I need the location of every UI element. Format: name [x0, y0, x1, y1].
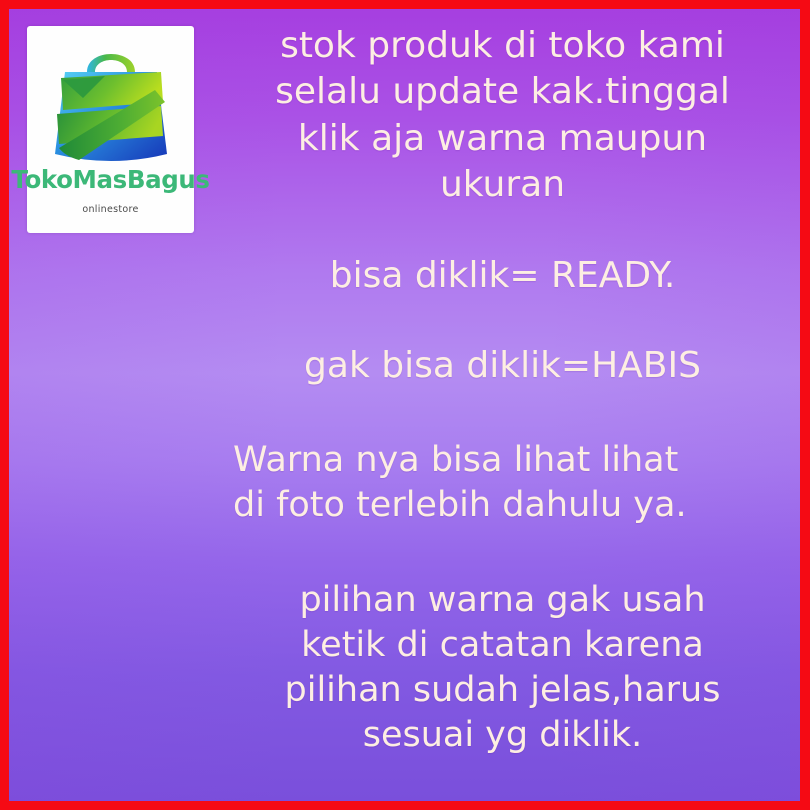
paragraph-no-notes: pilihan warna gak usah ketik di catatan …: [221, 578, 784, 759]
p1-line-4: ukuran: [440, 164, 565, 205]
brand-logo-card: TokoMasBagus onlinestore: [27, 26, 194, 233]
promo-message-block: stok produk di toko kami selalu update k…: [221, 23, 784, 758]
paragraph-ready: bisa diklik= READY.: [221, 253, 784, 299]
p5-line-1: pilihan warna gak usah: [221, 578, 784, 623]
p5-line-4: sesuai yg diklik.: [221, 713, 784, 758]
p1-line-2: selalu update kak.tinggal: [275, 71, 730, 112]
paragraph-check-photo: Warna nya bisa lihat lihat di foto terle…: [233, 438, 784, 528]
p3-line-1: gak bisa diklik=HABIS: [304, 345, 701, 386]
paragraph-habis: gak bisa diklik=HABIS: [221, 343, 784, 389]
p4-line-2: di foto terlebih dahulu ya.: [233, 483, 784, 528]
shopping-bag-ribbon-logo: [43, 32, 179, 167]
p1-line-3: klik aja warna maupun: [298, 118, 707, 159]
p2-line-1: bisa diklik= READY.: [330, 255, 676, 296]
p5-line-3: pilihan sudah jelas,harus: [221, 668, 784, 713]
p4-line-1: Warna nya bisa lihat lihat: [233, 440, 678, 480]
p1-line-1: stok produk di toko kami: [280, 25, 725, 66]
p5-line-2: ketik di catatan karena: [221, 623, 784, 668]
brand-tagline: onlinestore: [82, 204, 138, 215]
bag-handle-shape: [87, 54, 135, 72]
paragraph-stock-update: stok produk di toko kami selalu update k…: [221, 23, 784, 209]
poster-frame: TokoMasBagus onlinestore stok produk di …: [0, 0, 810, 810]
brand-name: TokoMasBagus: [11, 168, 209, 193]
poster-background: TokoMasBagus onlinestore stok produk di …: [9, 9, 800, 801]
